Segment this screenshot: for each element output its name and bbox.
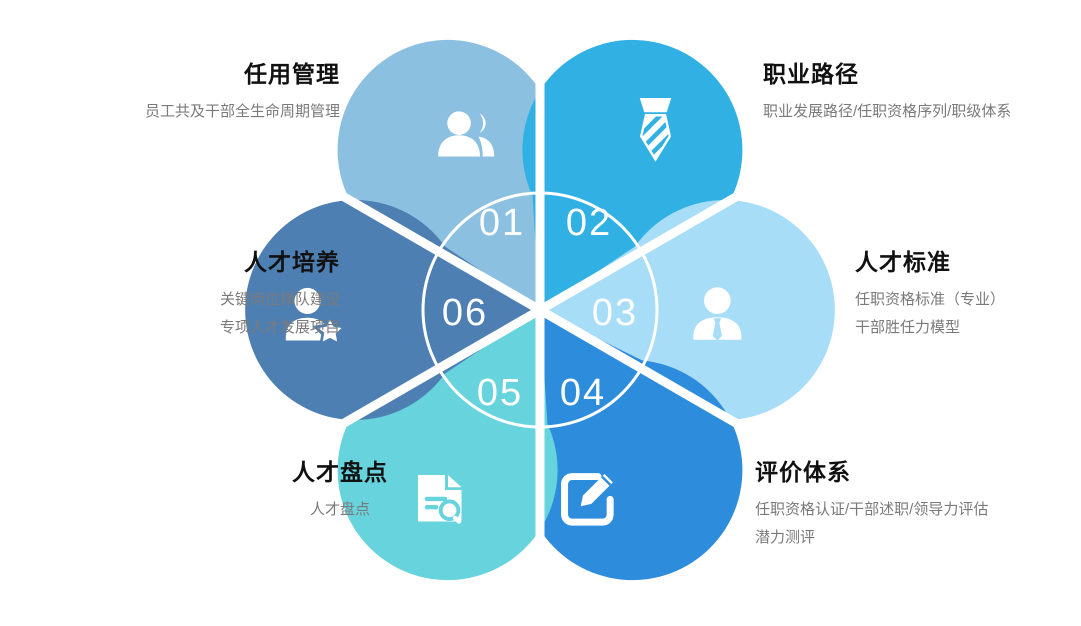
infographic-canvas: 01 02 03 04 05 06 bbox=[0, 0, 1081, 626]
label-sub-04-line2: 潜力测评 bbox=[755, 524, 1081, 552]
label-title-05: 人才盘点 bbox=[190, 458, 490, 487]
label-block-06: 人才培养 关键岗位梯队建设 专项人才发展项目 bbox=[10, 248, 340, 341]
label-block-04: 评价体系 任职资格认证/干部述职/领导力评估 潜力测评 bbox=[755, 458, 1081, 551]
label-block-03: 人才标准 任职资格标准（专业） 干部胜任力模型 bbox=[855, 248, 1081, 341]
label-title-03: 人才标准 bbox=[855, 248, 1081, 277]
label-sub-05-line1: 人才盘点 bbox=[190, 496, 490, 524]
label-block-01: 任用管理 员工共及干部全生命周期管理 bbox=[10, 60, 340, 126]
label-sub-01-line1: 员工共及干部全生命周期管理 bbox=[10, 98, 340, 126]
label-title-04: 评价体系 bbox=[755, 458, 1081, 487]
label-sub-06-line1: 关键岗位梯队建设 bbox=[10, 286, 340, 314]
label-title-01: 任用管理 bbox=[10, 60, 340, 89]
label-sub-06-line2: 专项人才发展项目 bbox=[10, 314, 340, 342]
label-sub-03-line1: 任职资格标准（专业） bbox=[855, 286, 1081, 314]
petal-number-05: 05 bbox=[477, 372, 523, 414]
label-sub-03-line2: 干部胜任力模型 bbox=[855, 314, 1081, 342]
label-block-05: 人才盘点 人才盘点 bbox=[190, 458, 490, 524]
petal-number-01: 01 bbox=[479, 202, 525, 244]
label-block-02: 职业路径 职业发展路径/任职资格序列/职级体系 bbox=[763, 60, 1081, 126]
petal-number-04: 04 bbox=[560, 372, 606, 414]
label-sub-04-line1: 任职资格认证/干部述职/领导力评估 bbox=[755, 496, 1081, 524]
petal-number-02: 02 bbox=[566, 202, 612, 244]
label-sub-02-line1: 职业发展路径/任职资格序列/职级体系 bbox=[763, 98, 1081, 126]
label-title-06: 人才培养 bbox=[10, 248, 340, 277]
petal-number-03: 03 bbox=[592, 292, 638, 334]
label-title-02: 职业路径 bbox=[763, 60, 1081, 89]
petal-number-06: 06 bbox=[442, 292, 488, 334]
